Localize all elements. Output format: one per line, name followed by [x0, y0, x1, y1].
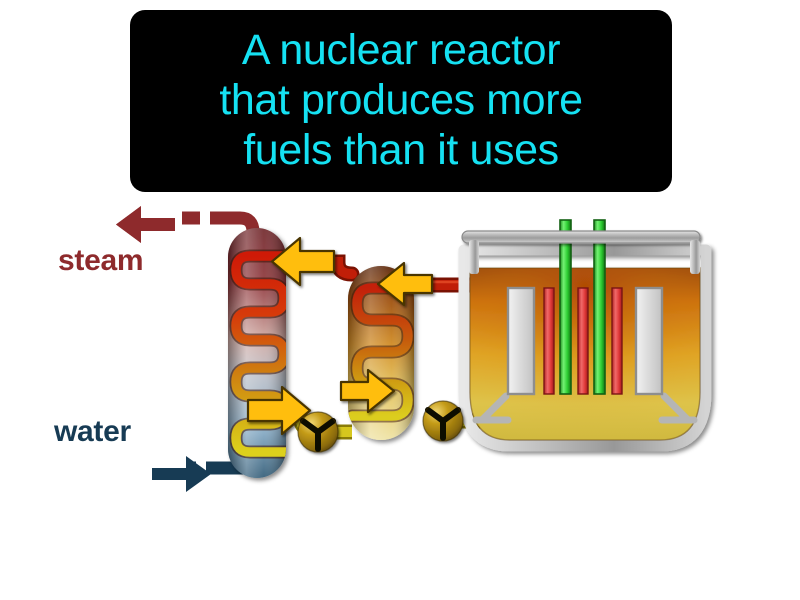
steam-outlet-arrow — [116, 206, 175, 243]
breeder-reactor-diagram — [0, 0, 800, 600]
diagram-canvas: A nuclear reactor that produces more fue… — [0, 0, 800, 600]
water-inlet-arrow — [152, 456, 211, 492]
steam-outlet-pipe — [182, 218, 253, 232]
reactor-head-bar — [462, 231, 700, 243]
fuel-rod-3 — [612, 288, 622, 394]
blanket-block-left — [508, 288, 534, 394]
fuel-rod-2 — [578, 288, 588, 394]
control-rod-2 — [594, 220, 605, 394]
fuel-rod-1 — [544, 288, 554, 394]
control-rod-1 — [560, 220, 571, 394]
blanket-block-right — [636, 288, 662, 394]
coolant-pump-2 — [423, 401, 463, 441]
coolant-pump-1 — [298, 412, 338, 452]
